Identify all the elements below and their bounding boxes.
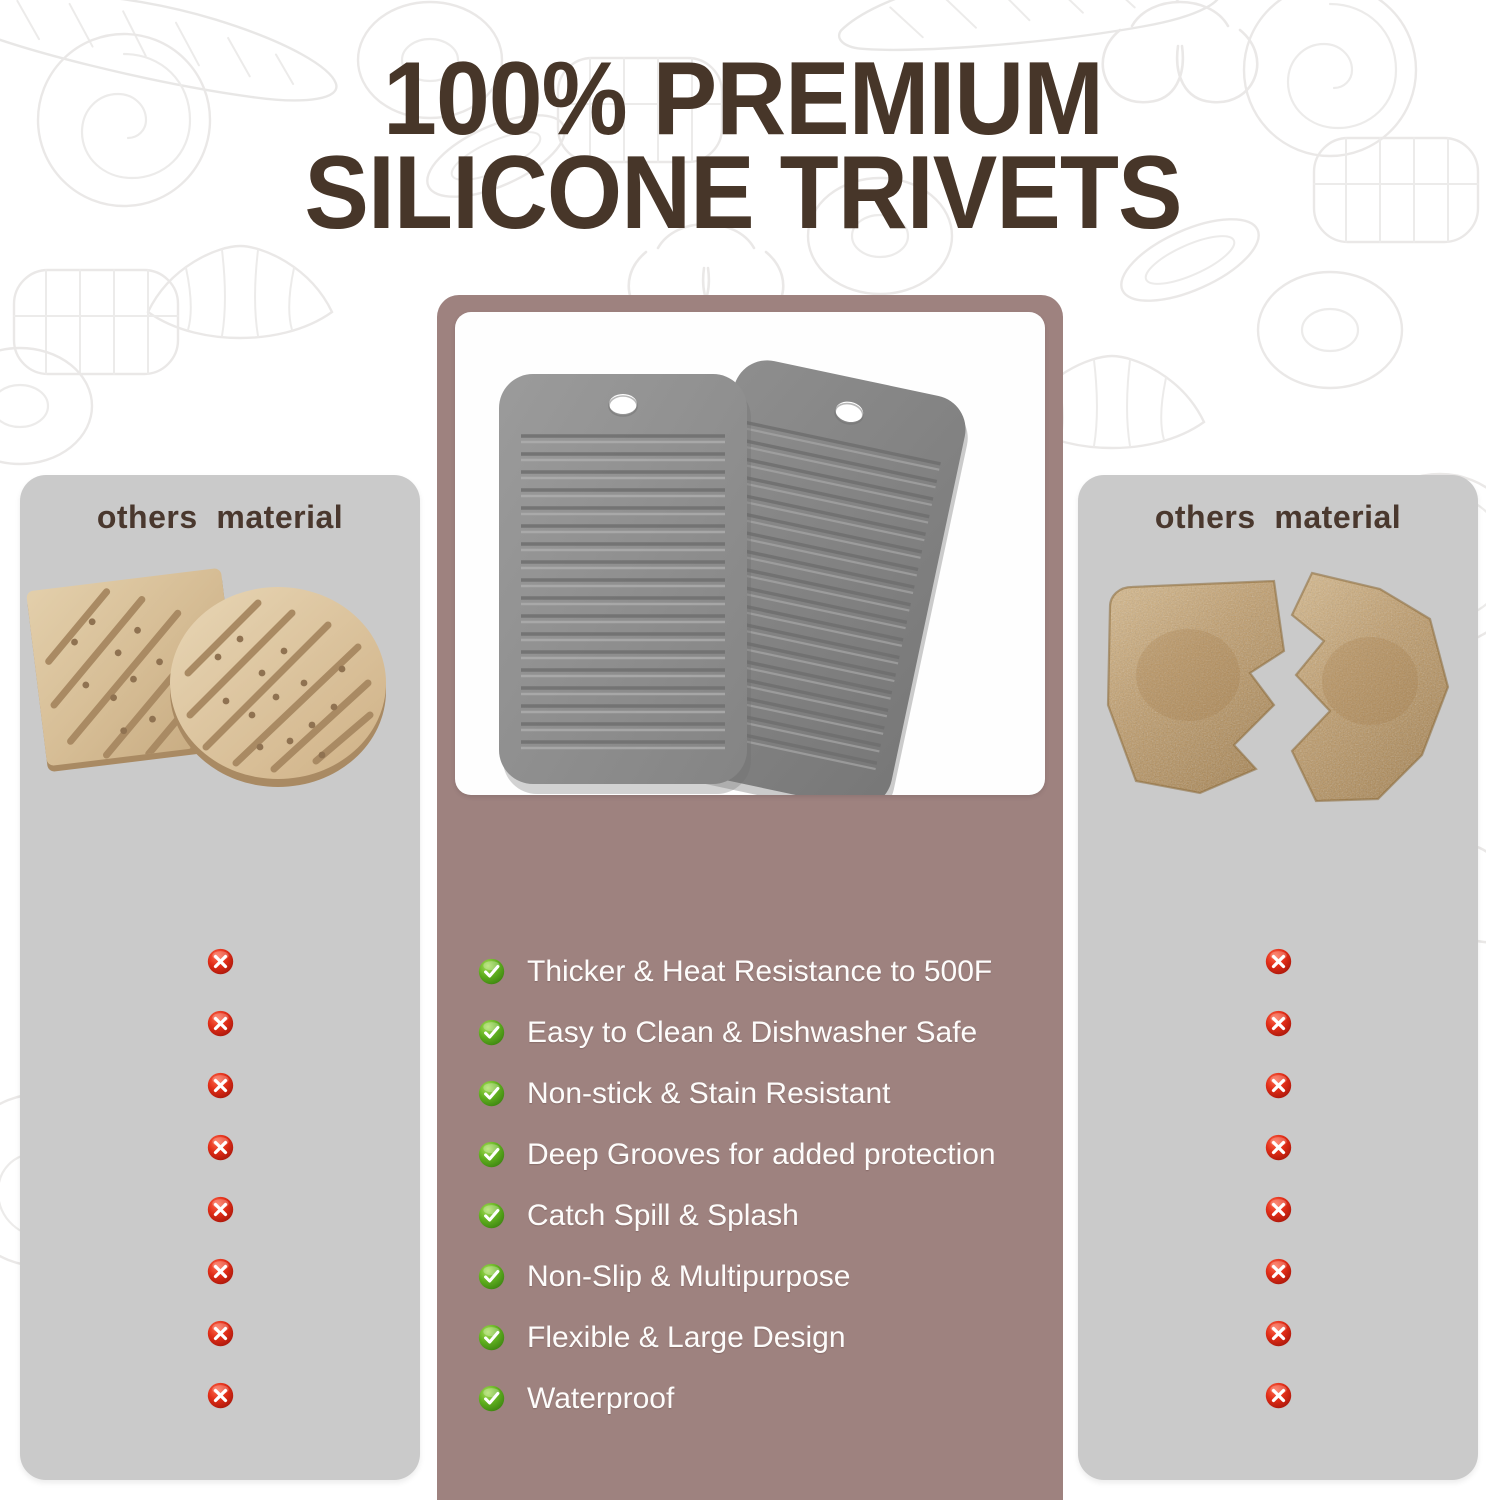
red-cross-icon (206, 1256, 235, 1287)
green-check-icon (477, 957, 506, 986)
negative-row (20, 1116, 420, 1178)
red-cross-icon (206, 1132, 235, 1163)
feature-label: Waterproof (527, 1383, 674, 1415)
red-cross-icon (1264, 1070, 1293, 1101)
negative-row (20, 1302, 420, 1364)
feature-row: Waterproof (477, 1368, 1037, 1429)
feature-label: Non-Slip & Multipurpose (527, 1261, 850, 1293)
feature-row: Non-stick & Stain Resistant (477, 1063, 1037, 1124)
green-check-icon (477, 1140, 506, 1169)
feature-row: Catch Spill & Splash (477, 1185, 1037, 1246)
green-check-icon (477, 1323, 506, 1352)
green-check-icon (477, 1018, 506, 1047)
comparison-panel-right: others material (1078, 475, 1478, 1480)
green-check-icon (477, 1079, 506, 1108)
negative-row (1078, 1178, 1478, 1240)
silicone-trivet-product-card (455, 312, 1045, 795)
silicone-trivets-image (455, 312, 1045, 795)
red-cross-icon (206, 946, 235, 977)
negative-row (1078, 1054, 1478, 1116)
red-cross-icon (206, 1008, 235, 1039)
negative-row (20, 1240, 420, 1302)
feature-label: Thicker & Heat Resistance to 500F (527, 956, 992, 988)
negative-row (20, 992, 420, 1054)
negative-row (20, 930, 420, 992)
feature-benefit-list: Thicker & Heat Resistance to 500F Easy t… (477, 941, 1037, 1429)
right-panel-heading: others material (1078, 499, 1478, 536)
feature-label: Flexible & Large Design (527, 1322, 846, 1354)
feature-label: Non-stick & Stain Resistant (527, 1078, 890, 1110)
broken-cork-trivet-image (1078, 555, 1478, 820)
red-cross-icon (1264, 1380, 1293, 1411)
negative-row (1078, 930, 1478, 992)
negative-row (1078, 1302, 1478, 1364)
feature-label: Easy to Clean & Dishwasher Safe (527, 1017, 977, 1049)
negative-row (1078, 1364, 1478, 1426)
red-cross-icon (1264, 1194, 1293, 1225)
negative-row (1078, 1240, 1478, 1302)
green-check-icon (477, 1262, 506, 1291)
left-panel-negative-list (20, 930, 420, 1426)
left-panel-heading: others material (20, 499, 420, 536)
red-cross-icon (1264, 946, 1293, 977)
negative-row (20, 1178, 420, 1240)
feature-row: Non-Slip & Multipurpose (477, 1246, 1037, 1307)
feature-row: Easy to Clean & Dishwasher Safe (477, 1002, 1037, 1063)
feature-row: Deep Grooves for added protection (477, 1124, 1037, 1185)
bamboo-trivet-image (20, 555, 420, 820)
feature-label: Deep Grooves for added protection (527, 1139, 996, 1171)
product-highlight-panel: Thicker & Heat Resistance to 500F Easy t… (437, 295, 1063, 1500)
red-cross-icon (206, 1194, 235, 1225)
feature-row: Thicker & Heat Resistance to 500F (477, 941, 1037, 1002)
green-check-icon (477, 1384, 506, 1413)
right-panel-negative-list (1078, 930, 1478, 1426)
red-cross-icon (206, 1070, 235, 1101)
title-line-1: 100% PREMIUM (52, 52, 1434, 146)
red-cross-icon (206, 1318, 235, 1349)
negative-row (20, 1054, 420, 1116)
negative-row (1078, 1116, 1478, 1178)
title-line-2: SILICONE TRIVETS (52, 146, 1434, 240)
feature-row: Flexible & Large Design (477, 1307, 1037, 1368)
negative-row (20, 1364, 420, 1426)
red-cross-icon (1264, 1318, 1293, 1349)
comparison-panel-left: others material (20, 475, 420, 1480)
red-cross-icon (1264, 1132, 1293, 1163)
page-title: 100% PREMIUM SILICONE TRIVETS (0, 52, 1486, 240)
feature-label: Catch Spill & Splash (527, 1200, 799, 1232)
hanging-hole (609, 394, 637, 414)
red-cross-icon (206, 1380, 235, 1411)
green-check-icon (477, 1201, 506, 1230)
red-cross-icon (1264, 1256, 1293, 1287)
red-cross-icon (1264, 1008, 1293, 1039)
infographic-canvas: 100% PREMIUM SILICONE TRIVETS others mat… (0, 0, 1486, 1500)
negative-row (1078, 992, 1478, 1054)
